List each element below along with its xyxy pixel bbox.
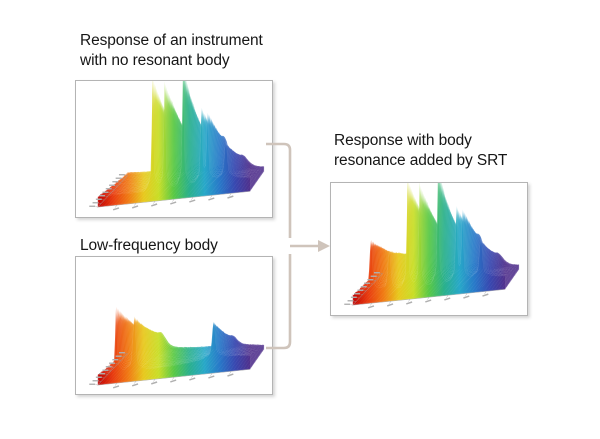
plot-surface-no-resonant-body xyxy=(76,81,272,217)
plot-surface-low-frequency-body xyxy=(76,257,272,394)
spectrum-3d-chart-1 xyxy=(76,81,272,217)
caption-no-resonant-body: Response of an instrument with no resona… xyxy=(80,31,330,70)
caption-response-with-srt: Response with body resonance added by SR… xyxy=(334,131,574,170)
plot-surface-response-with-srt xyxy=(331,183,527,315)
plot-panel-low-frequency-body xyxy=(75,256,273,395)
spectrum-3d-chart-2 xyxy=(76,257,272,394)
merge-arrow-connector xyxy=(266,140,338,352)
spectrum-3d-chart-3 xyxy=(331,183,527,315)
figure-canvas: Response of an instrument with no resona… xyxy=(0,0,600,439)
arrowhead-icon xyxy=(318,240,330,252)
connector-branch-bottom xyxy=(266,254,290,348)
plot-panel-no-resonant-body xyxy=(75,80,273,218)
plot-panel-response-with-srt xyxy=(330,182,528,316)
connector-branch-top xyxy=(266,144,290,238)
